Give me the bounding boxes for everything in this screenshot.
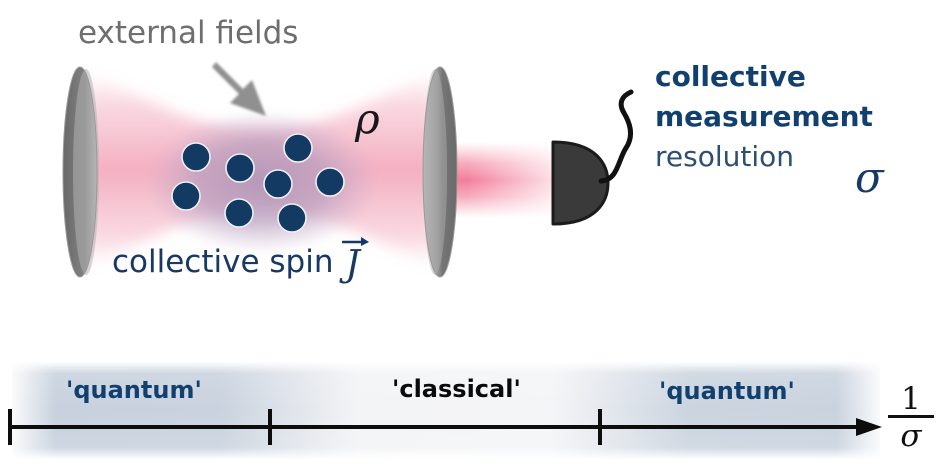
external-fields-arrow-icon bbox=[212, 62, 266, 116]
regime-label-quantum-left: 'quantum' bbox=[66, 378, 202, 402]
density-matrix-rho-label: ρ bbox=[355, 98, 380, 140]
cavity-mirror-left bbox=[63, 67, 99, 277]
atom-dot bbox=[264, 170, 292, 198]
cavity-mirror-right bbox=[423, 67, 457, 277]
atom-dot bbox=[316, 168, 344, 196]
fraction-denominator: σ bbox=[888, 419, 934, 453]
resolution-label: resolution bbox=[655, 143, 794, 171]
collective-measurement-line2: measurement bbox=[655, 103, 873, 131]
fraction-numerator: 1 bbox=[888, 386, 934, 412]
collective-measurement-line1: collective bbox=[655, 63, 806, 91]
vector-arrow-icon bbox=[342, 234, 370, 246]
regime-label-classical: 'classical' bbox=[392, 377, 521, 401]
axis-label-one-over-sigma: 1 σ bbox=[888, 386, 934, 453]
collective-spin-label: collective spin J bbox=[112, 247, 362, 283]
resolution-sigma-symbol: σ bbox=[855, 157, 884, 199]
spin-letter: J bbox=[345, 244, 359, 285]
atom-dot bbox=[278, 204, 306, 232]
atom-dot bbox=[182, 143, 210, 171]
regime-label-quantum-right: 'quantum' bbox=[659, 379, 795, 403]
spin-vector-symbol: J bbox=[343, 247, 361, 283]
output-beam bbox=[446, 142, 564, 218]
figure-canvas: external fields ρ collective spin J coll… bbox=[0, 0, 942, 472]
external-fields-label: external fields bbox=[78, 18, 298, 49]
atom-dot bbox=[172, 182, 200, 210]
collective-spin-text: collective spin bbox=[112, 244, 333, 280]
atom-dot bbox=[284, 134, 312, 162]
atom-dot bbox=[226, 154, 254, 182]
atom-dot bbox=[225, 199, 253, 227]
